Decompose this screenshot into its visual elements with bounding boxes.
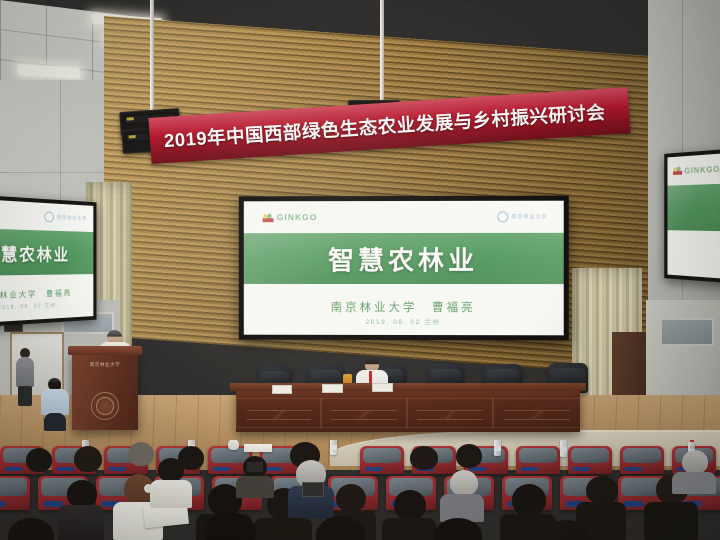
audience-phone-photographer — [288, 460, 334, 516]
phone-icon — [247, 462, 263, 472]
audience-head — [512, 484, 546, 516]
crouching-photographer — [40, 378, 70, 430]
podium-nameplate: 南京林业大学 — [84, 361, 126, 368]
audience-person — [150, 458, 192, 506]
table-name-card — [372, 383, 393, 392]
audience-person-grey — [672, 450, 716, 492]
slide-title: 智慧农林业 — [244, 240, 564, 277]
slide-header: GINKGO 南京林业大学 — [244, 201, 564, 234]
person-torso — [41, 389, 69, 415]
ginkgo-logo: GINKGO — [263, 212, 318, 222]
audience-head — [26, 448, 52, 472]
audience-head — [74, 446, 102, 472]
right-wall-window — [660, 318, 714, 346]
person-legs — [44, 413, 66, 431]
audience-seat[interactable] — [620, 446, 664, 474]
audience-head — [336, 484, 366, 512]
slide-date-location: 2019. 08. 02 兰州 — [0, 300, 93, 313]
audience-head — [586, 476, 618, 504]
ginkgo-leaf-icon — [263, 213, 274, 222]
audience-torso — [672, 472, 716, 494]
slide-header: 南京林业大学 — [0, 198, 93, 233]
audience-head — [158, 458, 184, 482]
university-emblem-icon — [91, 392, 119, 420]
ginkgo-logo-text: GINKGO — [277, 212, 318, 222]
audience-seat[interactable] — [360, 446, 404, 474]
audience-foreground-person — [0, 518, 70, 540]
slide-surface: GINKGO 南京林业大学 智慧农林业 南京林业大学 曹福亮 2019. 08.… — [244, 201, 564, 336]
seat-booklet — [244, 444, 272, 452]
slide-title-band: 智慧农林业 — [0, 228, 93, 276]
water-bottle — [560, 440, 567, 457]
audience-seat[interactable] — [568, 446, 612, 474]
phone-icon — [302, 482, 324, 497]
audience-foreground-person — [300, 516, 380, 540]
tea-cup — [228, 440, 239, 450]
university-logo: 南京林业大学 — [497, 211, 547, 222]
slide-title: 智慧农林业 — [0, 239, 93, 266]
audience-torso — [150, 480, 192, 508]
audience-torso — [236, 476, 274, 498]
audience-torso — [644, 502, 698, 540]
person-legs — [18, 386, 32, 406]
standing-person-doorway — [16, 348, 34, 406]
audience-person — [236, 456, 274, 496]
audience-head — [450, 470, 478, 496]
main-projection-screen: GINKGO 南京林业大学 智慧农林业 南京林业大学 曹福亮 2019. 08.… — [239, 196, 569, 341]
slide-presenter: 南京林业大学 曹福亮 — [244, 299, 564, 315]
panel-table — [236, 388, 580, 432]
audience-head — [8, 518, 54, 540]
audience-foreground-person — [420, 518, 498, 540]
university-logo: 南京林业大学 — [45, 212, 88, 225]
left-projection-screen: 南京林业大学 智慧农林业 南京林业大学 曹福亮 2019. 08. 02 兰州 — [0, 193, 97, 329]
slide-surface: GINKGO 智慧农林业 — [667, 150, 720, 282]
table-panel-segment — [236, 398, 322, 428]
slide-surface: 南京林业大学 智慧农林业 南京林业大学 曹福亮 2019. 08. 02 兰州 — [0, 198, 93, 325]
audience-head — [434, 518, 482, 540]
audience-head — [204, 512, 256, 540]
audience-head — [394, 490, 426, 520]
audience-head — [316, 516, 366, 540]
audience-person-grey — [440, 470, 484, 520]
table-panel-segment — [406, 398, 494, 428]
audience-head — [456, 444, 482, 468]
slide-footer — [667, 230, 720, 282]
slide-footer: 南京林业大学 曹福亮 2019. 08. 02 兰州 — [244, 284, 564, 335]
university-ring-icon — [497, 211, 508, 222]
slide-title-band: 智慧农林业 — [667, 182, 720, 232]
podium-top — [68, 346, 142, 355]
water-bottle — [494, 440, 501, 456]
university-logo-text: 南京林业大学 — [57, 214, 87, 222]
university-logo-text: 南京林业大学 — [511, 213, 547, 220]
audience-foreground-person — [530, 520, 606, 540]
audience-foreground-person — [186, 512, 272, 540]
wall-seam — [0, 172, 120, 173]
table-name-card — [322, 384, 343, 393]
table-panel-segment — [320, 398, 408, 428]
table-name-card — [272, 385, 292, 394]
water-bottle — [330, 440, 337, 455]
podium: 南京林业大学 — [72, 352, 138, 430]
camera-icon — [49, 382, 61, 389]
person-torso — [16, 357, 34, 387]
table-panel-segment — [492, 398, 582, 428]
audience-seat[interactable] — [516, 446, 560, 474]
audience-head — [544, 520, 590, 540]
audience-seating — [0, 440, 720, 540]
audience-head — [410, 446, 438, 470]
audience-seat[interactable] — [0, 476, 30, 510]
slide-footer: 南京林业大学 曹福亮 2019. 08. 02 兰州 — [0, 274, 93, 324]
slide-date-location: 2019. 08. 02 兰州 — [244, 315, 564, 326]
audience-head — [67, 480, 97, 508]
pole-sign-label: 安全出口 — [383, 2, 390, 42]
university-ring-icon — [45, 212, 55, 223]
right-projection-screen: GINKGO 智慧农林业 — [664, 146, 720, 287]
audience-head — [682, 450, 708, 474]
slide-title-band: 智慧农林业 — [244, 233, 564, 284]
conference-hall-photo: 安全出口 2019年中国西部绿色生态农业发展与乡村振兴研讨会 — [0, 0, 720, 540]
